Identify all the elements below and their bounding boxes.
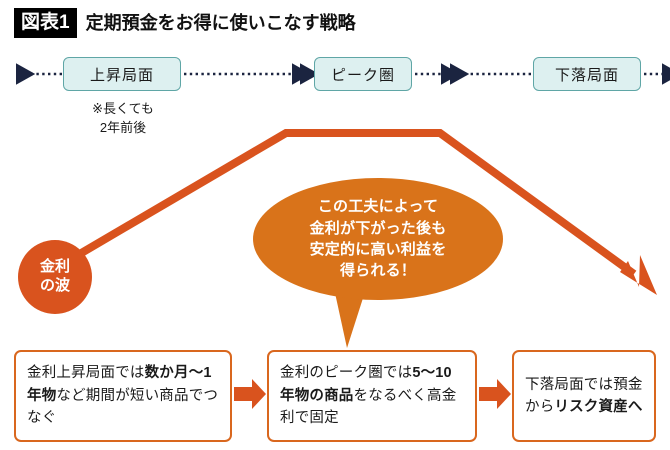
callout-line-3: 安定的に高い利益を — [310, 239, 447, 260]
figure-badge: 図表1 — [14, 8, 77, 38]
callout-text: この工夫によって 金利が下がった後も 安定的に高い利益を 得られる！ — [310, 196, 447, 281]
rate-wave-marker: 金利 の波 — [18, 240, 92, 314]
rate-wave-marker-line1: 金利 — [40, 258, 70, 277]
action-text-rising: 金利上昇局面では数か月〜1年物など期間が短い商品でつなぐ — [16, 362, 230, 429]
action-box-rising: 金利上昇局面では数か月〜1年物など期間が短い商品でつなぐ — [14, 350, 232, 442]
action-box-peak: 金利のピーク圏では5〜10年物の商品をなるべく高金利で固定 — [267, 350, 477, 442]
action-arrow-1-to-2 — [234, 379, 266, 409]
title-row: 図表1 定期預金をお得に使いこなす戦略 — [14, 8, 356, 38]
rate-wave-marker-line2: の波 — [40, 277, 70, 296]
phase-box-peak: ピーク圏 — [314, 57, 412, 91]
phase-duration-note: ※長くても2年前後 — [58, 100, 188, 138]
callout-line-2: 金利が下がった後も — [310, 218, 447, 239]
phase-box-falling: 下落局面 — [533, 57, 641, 91]
callout-bubble: この工夫によって 金利が下がった後も 安定的に高い利益を 得られる！ — [253, 178, 503, 300]
action-text-peak: 金利のピーク圏では5〜10年物の商品をなるべく高金利で固定 — [269, 362, 475, 429]
phase-box-rising: 上昇局面 — [63, 57, 181, 91]
action-box-falling: 下落局面では預金からリスク資産へ — [512, 350, 656, 442]
page-title: 定期預金をお得に使いこなす戦略 — [86, 14, 356, 32]
infographic-canvas: 図表1 定期預金をお得に使いこなす戦略 上昇局面 ピーク圏 下落局面 ※長くても… — [0, 0, 670, 450]
callout-line-1: この工夫によって — [310, 196, 447, 217]
callout-line-4: 得られる！ — [310, 260, 447, 281]
rate-wave-arrowhead — [620, 255, 657, 295]
action-text-falling: 下落局面では預金からリスク資産へ — [514, 374, 654, 419]
action-arrow-2-to-3 — [479, 379, 511, 409]
